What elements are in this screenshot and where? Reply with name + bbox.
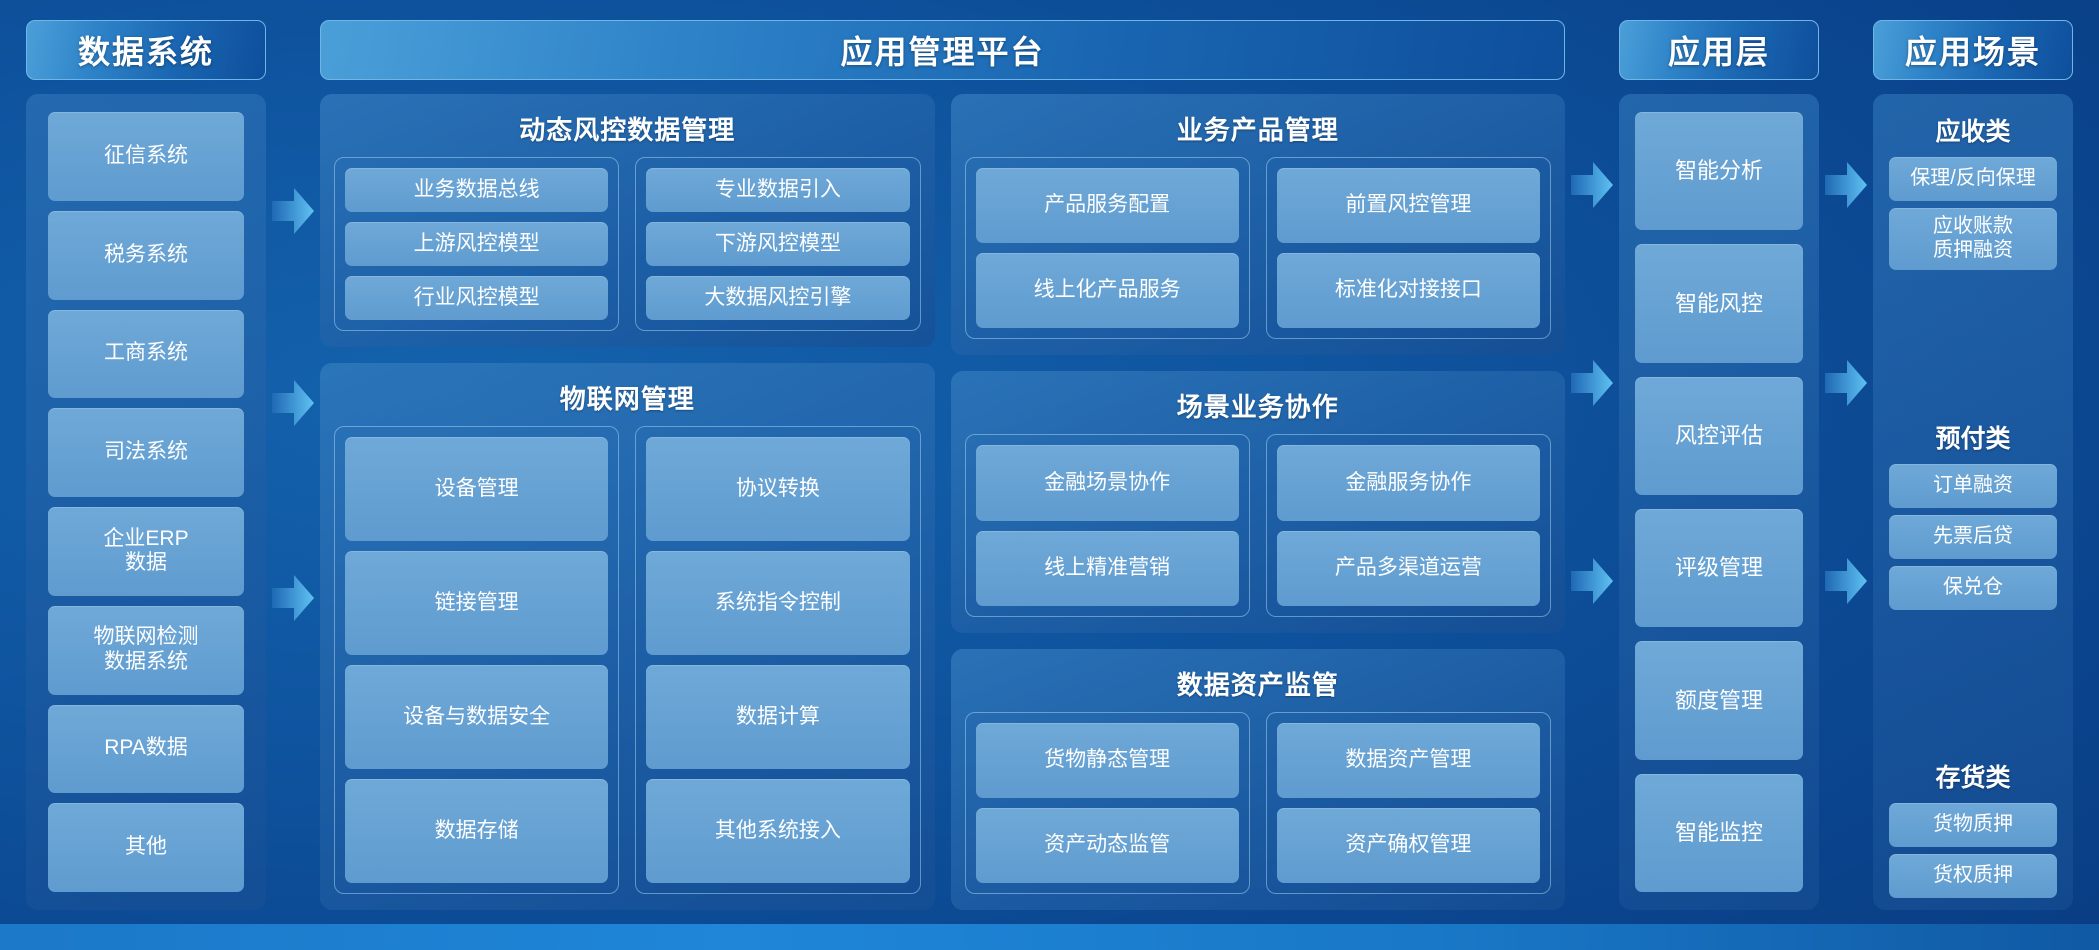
panel-iot-management: 物联网管理 设备管理 链接管理 设备与数据安全 数据存储 协议转换 系统指令控制…	[320, 363, 935, 910]
list-item[interactable]: 专业数据引入	[646, 168, 909, 212]
panel-dynamic-risk-data: 动态风控数据管理 业务数据总线 上游风控模型 行业风控模型 专业数据引入 下游风…	[320, 94, 935, 347]
subgroup: 专业数据引入 下游风控模型 大数据风控引擎	[635, 157, 920, 331]
list-item[interactable]: 应收账款质押融资	[1889, 208, 2057, 270]
architecture-diagram: 数据系统 征信系统 税务系统 工商系统 司法系统 企业ERP数据 物联网检测数据…	[0, 0, 2099, 924]
list-item[interactable]: 先票后贷	[1889, 515, 2057, 559]
panel-subgroups: 产品服务配置 线上化产品服务 前置风控管理 标准化对接接口	[965, 157, 1552, 339]
list-item[interactable]: 数据存储	[345, 779, 608, 883]
list-item[interactable]: 保兑仓	[1889, 566, 2057, 610]
arrow-right-icon	[272, 380, 314, 426]
platform-panel-stack-left: 动态风控数据管理 业务数据总线 上游风控模型 行业风控模型 专业数据引入 下游风…	[320, 94, 935, 910]
list-item[interactable]: 资产确权管理	[1277, 808, 1540, 883]
scenario-group-inventory: 存货类 货物质押 货权质押	[1889, 752, 2057, 898]
list-item[interactable]: 税务系统	[48, 211, 244, 300]
list-item[interactable]: 链接管理	[345, 551, 608, 655]
subgroup: 货物静态管理 资产动态监管	[965, 712, 1250, 894]
list-item[interactable]: 智能监控	[1635, 774, 1803, 892]
panel-title: 业务产品管理	[965, 104, 1552, 157]
list-item[interactable]: 物联网检测数据系统	[48, 606, 244, 695]
subgroup: 数据资产管理 资产确权管理	[1266, 712, 1551, 894]
arrow-lane-2	[1565, 20, 1619, 910]
panel-title: 动态风控数据管理	[334, 104, 921, 157]
list-item[interactable]: 产品服务配置	[976, 168, 1239, 243]
panel-business-product-management: 业务产品管理 产品服务配置 线上化产品服务 前置风控管理 标准化对接接口	[951, 94, 1566, 355]
arrow-right-icon	[272, 575, 314, 621]
list-item[interactable]: 保理/反向保理	[1889, 157, 2057, 201]
list-item[interactable]: 协议转换	[646, 437, 909, 541]
panel-subgroups: 设备管理 链接管理 设备与数据安全 数据存储 协议转换 系统指令控制 数据计算 …	[334, 426, 921, 894]
list-item[interactable]: 其他系统接入	[646, 779, 909, 883]
arrow-right-icon	[1571, 162, 1613, 208]
column-scenarios: 应用场景 应收类 保理/反向保理 应收账款质押融资 预付类 订单融资 先票后贷 …	[1873, 20, 2073, 910]
panel-title: 数据资产监管	[965, 659, 1552, 712]
list-item[interactable]: RPA数据	[48, 705, 244, 794]
list-item[interactable]: 金融服务协作	[1277, 445, 1540, 520]
column-platform: 应用管理平台 动态风控数据管理 业务数据总线 上游风控模型 行业风控模型 专业数…	[320, 20, 1565, 910]
arrow-right-icon	[1571, 360, 1613, 406]
list-item[interactable]: 产品多渠道运营	[1277, 531, 1540, 606]
scenarios-groups: 应收类 保理/反向保理 应收账款质押融资 预付类 订单融资 先票后贷 保兑仓 存…	[1873, 94, 2073, 910]
bottom-accent-bar	[0, 924, 2099, 950]
list-item[interactable]: 设备与数据安全	[345, 665, 608, 769]
arrow-right-icon	[1825, 558, 1867, 604]
panel-scene-business-collaboration: 场景业务协作 金融场景协作 线上精准营销 金融服务协作 产品多渠道运营	[951, 371, 1566, 632]
platform-panels: 动态风控数据管理 业务数据总线 上游风控模型 行业风控模型 专业数据引入 下游风…	[320, 94, 1565, 910]
scenario-group-title: 存货类	[1889, 752, 2057, 796]
list-item[interactable]: 标准化对接接口	[1277, 253, 1540, 328]
column-header-app-layer: 应用层	[1619, 20, 1819, 80]
column-header-data-systems: 数据系统	[26, 20, 266, 80]
list-item[interactable]: 其他	[48, 803, 244, 892]
list-item[interactable]: 货权质押	[1889, 854, 2057, 898]
subgroup: 金融服务协作 产品多渠道运营	[1266, 434, 1551, 616]
subgroup: 产品服务配置 线上化产品服务	[965, 157, 1250, 339]
arrow-right-icon	[1825, 360, 1867, 406]
list-item[interactable]: 智能风控	[1635, 244, 1803, 362]
panel-title: 物联网管理	[334, 373, 921, 426]
list-item[interactable]: 下游风控模型	[646, 222, 909, 266]
subgroup: 金融场景协作 线上精准营销	[965, 434, 1250, 616]
list-item[interactable]: 金融场景协作	[976, 445, 1239, 520]
subgroup: 业务数据总线 上游风控模型 行业风控模型	[334, 157, 619, 331]
list-item[interactable]: 上游风控模型	[345, 222, 608, 266]
list-item[interactable]: 额度管理	[1635, 641, 1803, 759]
app-layer-list: 智能分析 智能风控 风控评估 评级管理 额度管理 智能监控	[1619, 94, 1819, 910]
column-data-systems: 数据系统 征信系统 税务系统 工商系统 司法系统 企业ERP数据 物联网检测数据…	[26, 20, 266, 910]
list-item[interactable]: 数据计算	[646, 665, 909, 769]
list-item[interactable]: 前置风控管理	[1277, 168, 1540, 243]
list-item[interactable]: 行业风控模型	[345, 276, 608, 320]
list-item[interactable]: 司法系统	[48, 408, 244, 497]
arrow-lane-3	[1819, 20, 1873, 910]
list-item[interactable]: 货物静态管理	[976, 723, 1239, 798]
arrow-lane-1	[266, 20, 320, 910]
list-item[interactable]: 大数据风控引擎	[646, 276, 909, 320]
scenario-group-prepaid: 预付类 订单融资 先票后贷 保兑仓	[1889, 413, 2057, 610]
scenario-group-title: 预付类	[1889, 413, 2057, 457]
list-item[interactable]: 线上精准营销	[976, 531, 1239, 606]
panel-data-asset-supervision: 数据资产监管 货物静态管理 资产动态监管 数据资产管理 资产确权管理	[951, 649, 1566, 910]
list-item[interactable]: 企业ERP数据	[48, 507, 244, 596]
list-item[interactable]: 业务数据总线	[345, 168, 608, 212]
panel-subgroups: 金融场景协作 线上精准营销 金融服务协作 产品多渠道运营	[965, 434, 1552, 616]
arrow-right-icon	[1571, 558, 1613, 604]
list-item[interactable]: 系统指令控制	[646, 551, 909, 655]
column-header-platform: 应用管理平台	[320, 20, 1565, 80]
list-item[interactable]: 智能分析	[1635, 112, 1803, 230]
column-header-scenarios: 应用场景	[1873, 20, 2073, 80]
list-item[interactable]: 风控评估	[1635, 377, 1803, 495]
scenario-group-receivables: 应收类 保理/反向保理 应收账款质押融资	[1889, 106, 2057, 270]
panel-subgroups: 货物静态管理 资产动态监管 数据资产管理 资产确权管理	[965, 712, 1552, 894]
platform-panel-stack-right: 业务产品管理 产品服务配置 线上化产品服务 前置风控管理 标准化对接接口 场景业…	[951, 94, 1566, 910]
subgroup: 设备管理 链接管理 设备与数据安全 数据存储	[334, 426, 619, 894]
list-item[interactable]: 评级管理	[1635, 509, 1803, 627]
arrow-right-icon	[272, 188, 314, 234]
list-item[interactable]: 工商系统	[48, 310, 244, 399]
subgroup: 前置风控管理 标准化对接接口	[1266, 157, 1551, 339]
list-item[interactable]: 线上化产品服务	[976, 253, 1239, 328]
arrow-right-icon	[1825, 162, 1867, 208]
panel-title: 场景业务协作	[965, 381, 1552, 434]
list-item[interactable]: 资产动态监管	[976, 808, 1239, 883]
data-systems-list: 征信系统 税务系统 工商系统 司法系统 企业ERP数据 物联网检测数据系统 RP…	[26, 94, 266, 910]
list-item[interactable]: 数据资产管理	[1277, 723, 1540, 798]
scenario-group-title: 应收类	[1889, 106, 2057, 150]
list-item[interactable]: 订单融资	[1889, 464, 2057, 508]
subgroup: 协议转换 系统指令控制 数据计算 其他系统接入	[635, 426, 920, 894]
panel-subgroups: 业务数据总线 上游风控模型 行业风控模型 专业数据引入 下游风控模型 大数据风控…	[334, 157, 921, 331]
column-app-layer: 应用层 智能分析 智能风控 风控评估 评级管理 额度管理 智能监控	[1619, 20, 1819, 910]
list-item[interactable]: 设备管理	[345, 437, 608, 541]
list-item[interactable]: 货物质押	[1889, 803, 2057, 847]
list-item[interactable]: 征信系统	[48, 112, 244, 201]
